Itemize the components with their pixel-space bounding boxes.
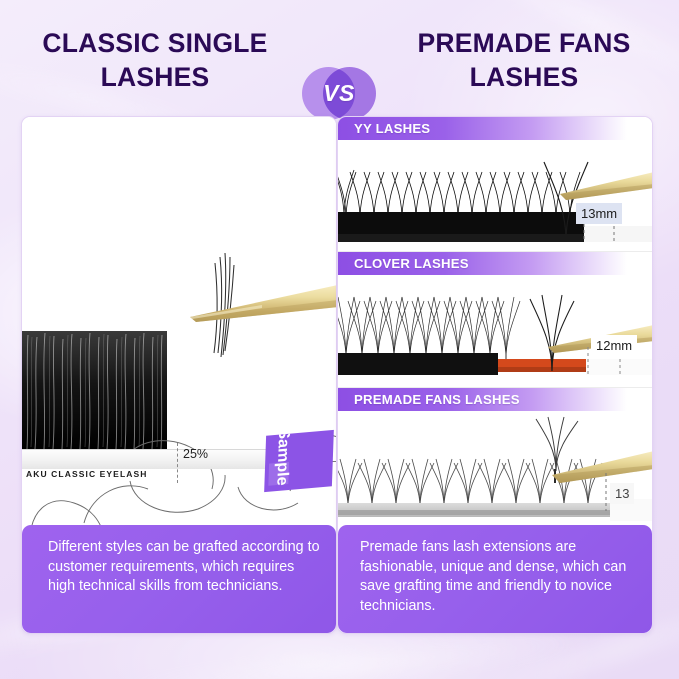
yy-lashes-illustration: 13mm [338, 140, 652, 251]
gold-tweezer-icon [552, 451, 652, 483]
measure-label-yy: 13mm [576, 203, 622, 224]
comparison-infographic: CLASSIC SINGLE LASHES PREMADE FANS LASHE… [0, 0, 679, 679]
section-premade-fans: PREMADE FANS LASHES [338, 388, 652, 527]
vs-label: VS [302, 67, 376, 120]
measure-tick [177, 443, 178, 483]
right-title: PREMADE FANS LASHES [379, 26, 669, 94]
classic-panel-artwork: 25% AKU CLASSIC EYELASH Sample [22, 117, 336, 527]
clover-lash-graphic [338, 275, 652, 387]
section-title-yy: YY LASHES [338, 121, 430, 136]
premade-fan-graphic [338, 411, 652, 527]
premade-caption: Premade fans lash extensions are fashion… [338, 525, 652, 633]
classic-caption: Different styles can be grafted accordin… [22, 525, 336, 633]
gold-tweezer-icon [560, 172, 652, 200]
classic-single-lashes-panel: 25% AKU CLASSIC EYELASH Sample Different… [21, 116, 337, 634]
single-lash-strands [214, 253, 234, 357]
measure-label-clover: 12mm [591, 335, 637, 356]
section-header-clover: CLOVER LASHES [338, 252, 652, 275]
yy-lash-graphic [338, 140, 652, 251]
sample-sticker: Sample [264, 430, 334, 492]
measure-label-premade: 13 [610, 483, 634, 504]
left-title: CLASSIC SINGLE LASHES [10, 26, 300, 94]
premade-fans-lashes-panel: YY LASHES [337, 116, 653, 634]
sticker-text: Sample [272, 430, 292, 487]
premade-panel-artwork: YY LASHES [338, 117, 652, 527]
gold-tweezer-icon [190, 285, 336, 322]
section-yy-lashes: YY LASHES [338, 117, 652, 251]
classic-lash-cluster [22, 331, 167, 449]
section-header-premade: PREMADE FANS LASHES [338, 388, 652, 411]
tray-brand-text: AKU CLASSIC EYELASH [26, 469, 148, 479]
section-header-yy: YY LASHES [338, 117, 652, 140]
section-title-premade: PREMADE FANS LASHES [338, 392, 520, 407]
section-clover-lashes: CLOVER LASHES [338, 252, 652, 387]
vs-badge: VS [302, 67, 376, 120]
clover-lashes-illustration: 12mm [338, 275, 652, 387]
header: CLASSIC SINGLE LASHES PREMADE FANS LASHE… [0, 26, 679, 110]
background-light-streak [120, 634, 579, 679]
premade-single-fan [536, 417, 578, 471]
premade-fans-illustration: 13 [338, 411, 652, 527]
section-title-clover: CLOVER LASHES [338, 256, 469, 271]
percent-label: 25% [183, 447, 208, 461]
